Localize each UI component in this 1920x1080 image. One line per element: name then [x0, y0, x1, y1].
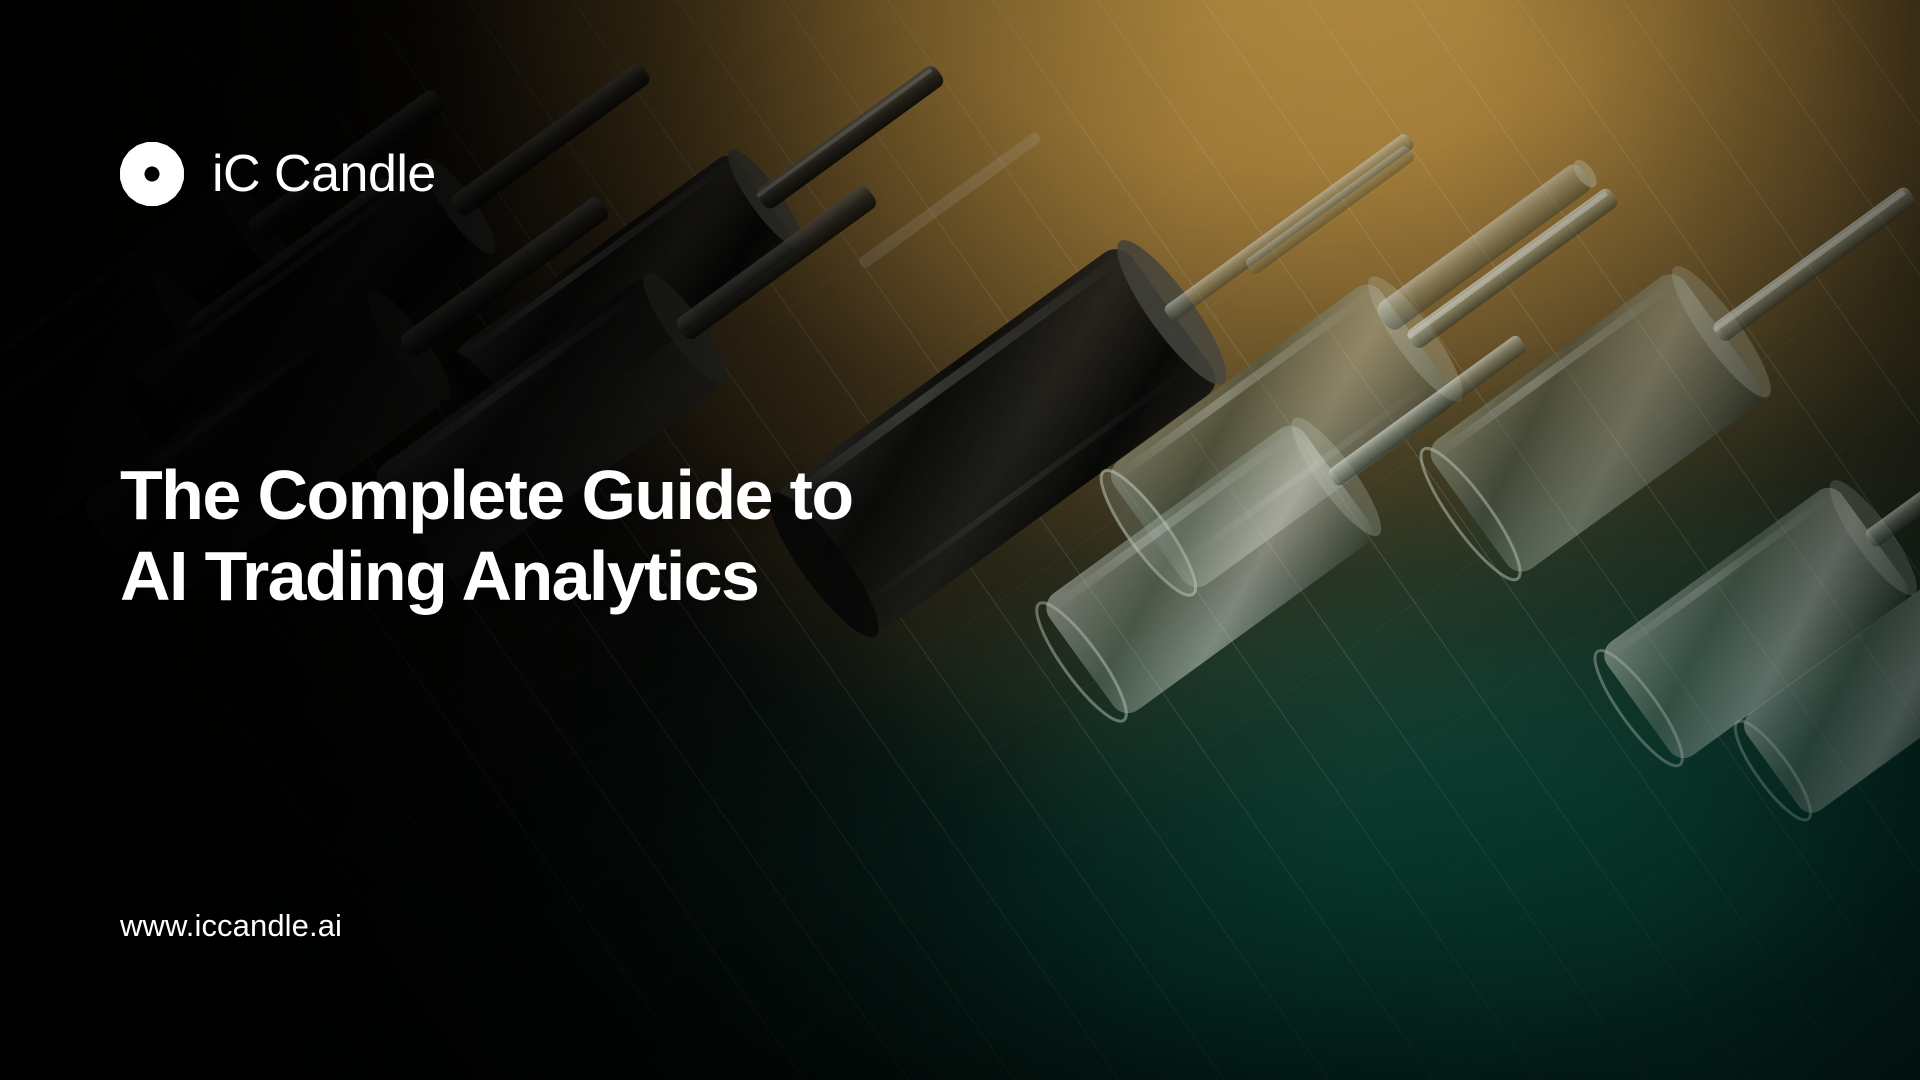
hero-headline: The Complete Guide to AI Trading Analyti… — [120, 455, 853, 616]
headline-line-1: The Complete Guide to — [120, 455, 853, 536]
brand-name: iC Candle — [212, 148, 436, 200]
sunburst-icon — [118, 140, 186, 208]
site-url: www.iccandle.ai — [120, 908, 342, 944]
poster-canvas: iC Candle The Complete Guide to AI Tradi… — [0, 0, 1920, 1080]
poster-content: iC Candle The Complete Guide to AI Tradi… — [0, 0, 1920, 1080]
headline-line-2: AI Trading Analytics — [120, 536, 853, 617]
brand-lockup: iC Candle — [118, 140, 436, 208]
